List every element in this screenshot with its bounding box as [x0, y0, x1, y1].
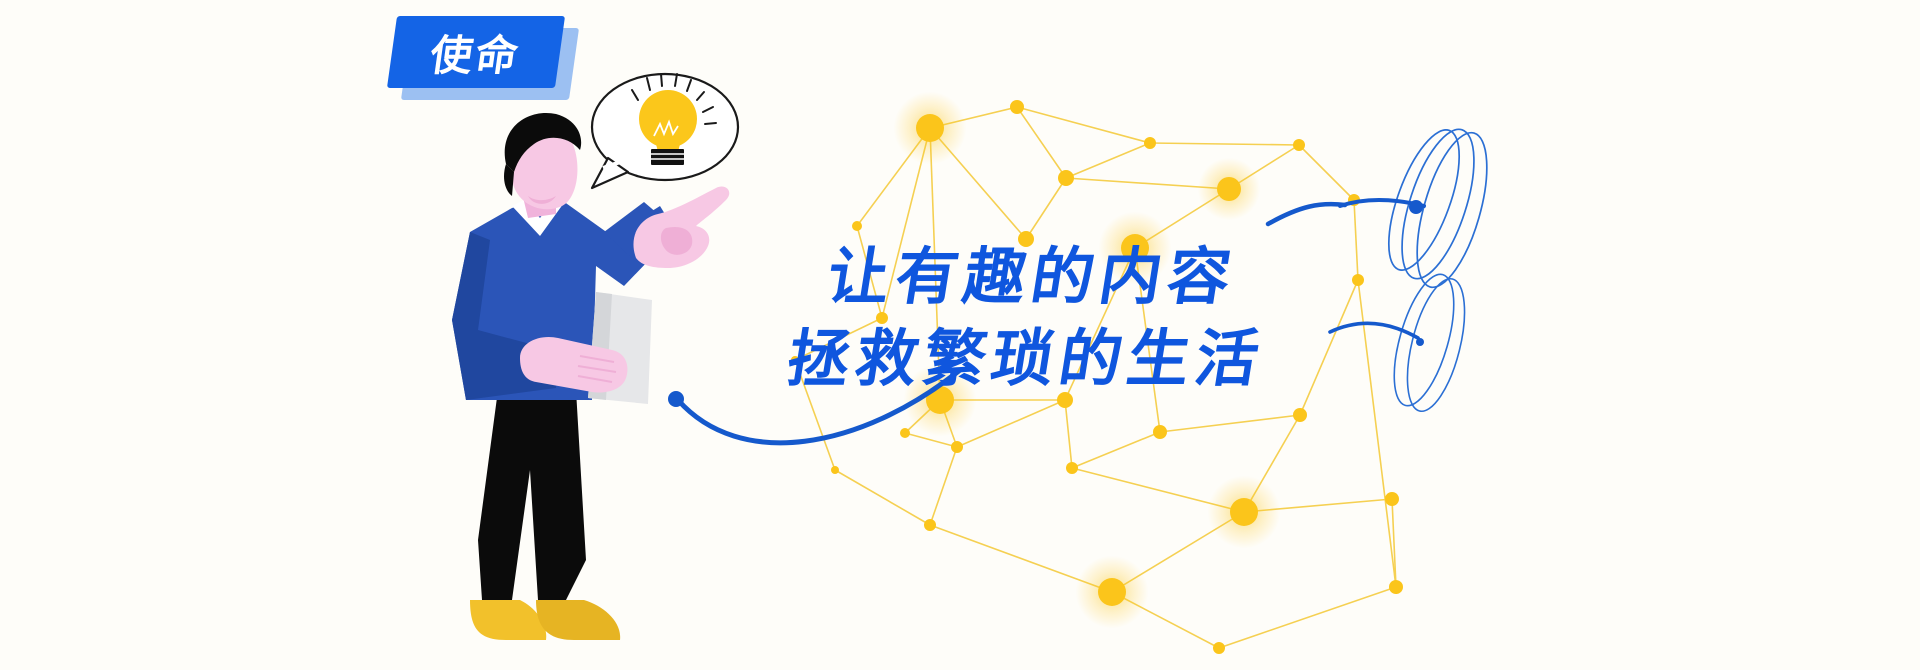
mission-badge: 使命 — [392, 12, 582, 104]
badge-block: 使命 — [0, 0, 1920, 670]
mission-banner: 让有趣的内容 拯救繁琐的生活 使命 — [0, 0, 1920, 670]
badge-label: 使命 — [387, 16, 565, 88]
